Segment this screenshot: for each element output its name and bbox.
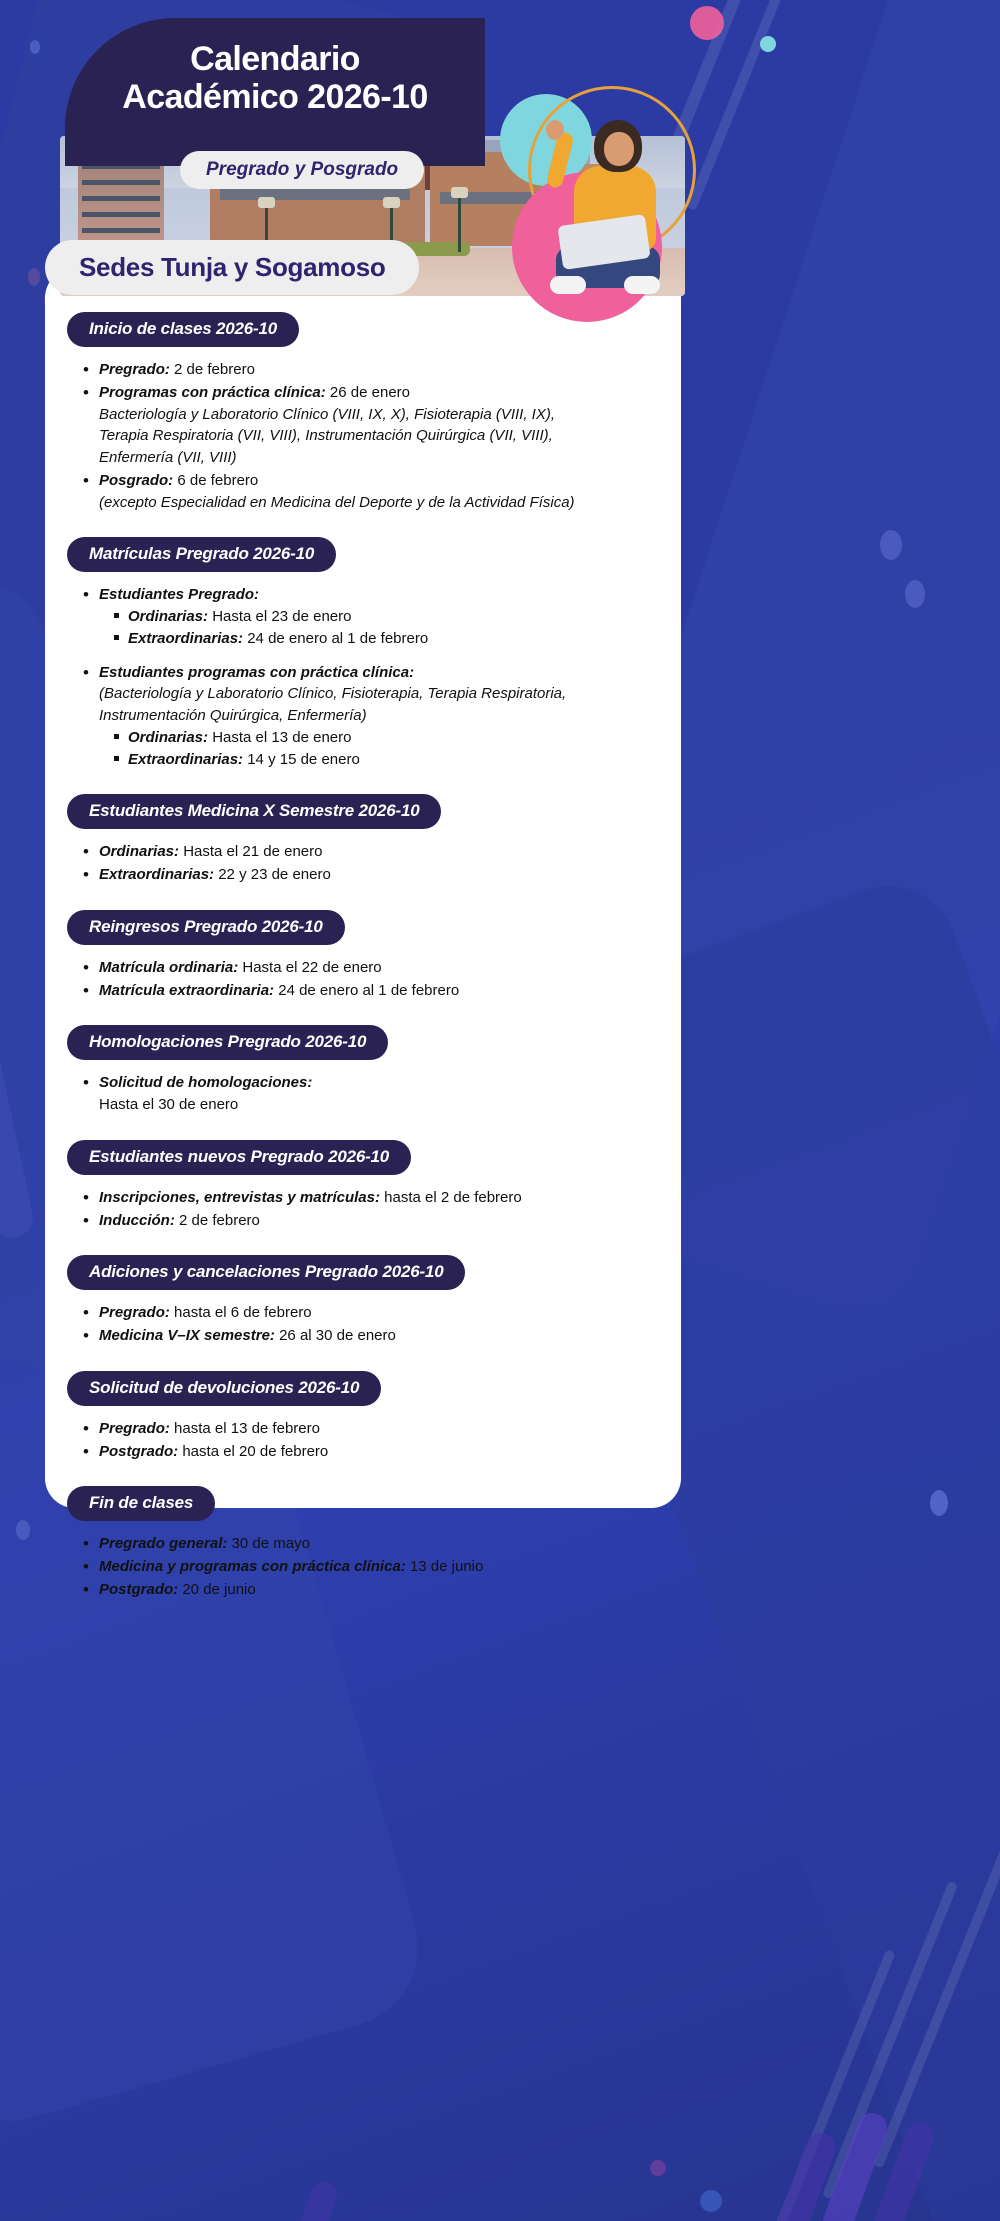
item-note: (excepto Especialidad en Medicina del De… xyxy=(99,492,681,514)
list-item: Ordinarias: Hasta el 21 de enero xyxy=(83,841,681,863)
item-label: Estudiantes programas con práctica clíni… xyxy=(99,664,414,681)
calendar-section: Adiciones y cancelaciones Pregrado 2026-… xyxy=(45,1243,681,1347)
list-item: Pregrado: 2 de febrero xyxy=(83,359,681,381)
list-item: Medicina V–IX semestre: 26 al 30 de ener… xyxy=(83,1325,681,1347)
section-heading-pill: Matrículas Pregrado 2026-10 xyxy=(67,537,336,572)
section-heading-pill: Reingresos Pregrado 2026-10 xyxy=(67,910,345,945)
campus-pill: Sedes Tunja y Sogamoso xyxy=(45,240,419,295)
item-label: Postgrado: xyxy=(99,1581,178,1598)
bg-dot xyxy=(690,6,724,40)
bg-dot xyxy=(700,2190,722,2212)
list-item: Matrícula ordinaria: Hasta el 22 de ener… xyxy=(83,957,681,979)
item-label: Solicitud de homologaciones: xyxy=(99,1074,312,1091)
list-item: Posgrado: 6 de febrero(excepto Especiali… xyxy=(83,470,681,514)
calendar-sections: Inicio de clases 2026-10Pregrado: 2 de f… xyxy=(45,300,681,1639)
item-value: 2 de febrero xyxy=(170,361,255,378)
list-item: Estudiantes programas con práctica clíni… xyxy=(83,662,681,771)
bg-dot xyxy=(28,268,40,286)
calendar-section: Solicitud de devoluciones 2026-10Pregrad… xyxy=(45,1359,681,1463)
list-item: Estudiantes Pregrado:Ordinarias: Hasta e… xyxy=(83,584,681,649)
list-item: Inducción: 2 de febrero xyxy=(83,1210,681,1232)
calendar-section: Homologaciones Pregrado 2026-10Solicitud… xyxy=(45,1013,681,1116)
section-item-list: Ordinarias: Hasta el 21 de eneroExtraord… xyxy=(83,841,681,886)
item-label: Pregrado general: xyxy=(99,1535,227,1552)
section-item-list: Estudiantes Pregrado:Ordinarias: Hasta e… xyxy=(83,584,681,770)
sub-item-value: 24 de enero al 1 de febrero xyxy=(243,630,428,647)
page-title-line2: Académico 2026-10 xyxy=(122,78,427,116)
item-note: Instrumentación Quirúrgica, Enfermería) xyxy=(99,705,681,727)
sub-list-item: Ordinarias: Hasta el 13 de enero xyxy=(113,727,681,749)
bg-dot xyxy=(760,36,776,52)
section-heading-pill: Homologaciones Pregrado 2026-10 xyxy=(67,1025,388,1060)
list-item: Inscripciones, entrevistas y matrículas:… xyxy=(83,1187,681,1209)
item-label: Matrícula extraordinaria: xyxy=(99,982,274,999)
sub-item-value: Hasta el 23 de enero xyxy=(208,608,351,625)
sub-item-value: 14 y 15 de enero xyxy=(243,751,360,768)
campus-pill-label: Sedes Tunja y Sogamoso xyxy=(79,252,385,282)
bg-squiggle xyxy=(285,2178,340,2221)
bg-dot xyxy=(650,2160,666,2176)
sub-item-label: Ordinarias: xyxy=(128,729,208,746)
bg-dot xyxy=(880,530,902,560)
list-item: Pregrado general: 30 de mayo xyxy=(83,1533,681,1555)
section-heading-pill: Inicio de clases 2026-10 xyxy=(67,312,299,347)
subtitle-pill-label: Pregrado y Posgrado xyxy=(206,159,398,180)
section-heading-pill: Estudiantes Medicina X Semestre 2026-10 xyxy=(67,794,441,829)
item-value: hasta el 6 de febrero xyxy=(170,1304,312,1321)
item-value: hasta el 2 de febrero xyxy=(380,1189,522,1206)
item-label: Pregrado: xyxy=(99,1420,170,1437)
item-label: Pregrado: xyxy=(99,1304,170,1321)
item-label: Medicina V–IX semestre: xyxy=(99,1327,275,1344)
item-note: Terapia Respiratoria (VII, VIII), Instru… xyxy=(99,425,681,447)
item-label: Postgrado: xyxy=(99,1443,178,1460)
item-label: Pregrado: xyxy=(99,361,170,378)
item-value: 30 de mayo xyxy=(227,1535,310,1552)
section-item-list: Solicitud de homologaciones:Hasta el 30 … xyxy=(83,1072,681,1116)
sub-item-label: Extraordinarias: xyxy=(128,630,243,647)
list-item: Programas con práctica clínica: 26 de en… xyxy=(83,382,681,469)
title-plate: Calendario Académico 2026-10 xyxy=(65,18,485,166)
calendar-section: Inicio de clases 2026-10Pregrado: 2 de f… xyxy=(45,300,681,513)
item-value: 26 al 30 de enero xyxy=(275,1327,396,1344)
list-item: Extraordinarias: 22 y 23 de enero xyxy=(83,864,681,886)
item-label: Medicina y programas con práctica clínic… xyxy=(99,1558,406,1575)
student-face xyxy=(604,132,634,166)
list-item: Solicitud de homologaciones:Hasta el 30 … xyxy=(83,1072,681,1116)
section-heading-pill: Estudiantes nuevos Pregrado 2026-10 xyxy=(67,1140,411,1175)
list-spacer xyxy=(83,651,681,661)
list-item: Pregrado: hasta el 6 de febrero xyxy=(83,1302,681,1324)
section-item-list: Pregrado: 2 de febreroProgramas con prác… xyxy=(83,359,681,513)
sub-item-list: Ordinarias: Hasta el 13 de eneroExtraord… xyxy=(113,727,681,771)
subtitle-pill: Pregrado y Posgrado xyxy=(180,151,424,189)
list-item: Medicina y programas con práctica clínic… xyxy=(83,1556,681,1578)
item-label: Ordinarias: xyxy=(99,843,179,860)
bg-dot xyxy=(930,1490,948,1516)
item-label: Programas con práctica clínica: xyxy=(99,384,326,401)
item-note-plain: Hasta el 30 de enero xyxy=(99,1094,681,1116)
item-value: Hasta el 22 de enero xyxy=(238,959,381,976)
item-value: hasta el 20 de febrero xyxy=(178,1443,328,1460)
calendar-section: Matrículas Pregrado 2026-10Estudiantes P… xyxy=(45,525,681,770)
section-item-list: Pregrado: hasta el 13 de febreroPostgrad… xyxy=(83,1418,681,1463)
sub-item-label: Extraordinarias: xyxy=(128,751,243,768)
item-value: 24 de enero al 1 de febrero xyxy=(274,982,459,999)
list-item: Matrícula extraordinaria: 24 de enero al… xyxy=(83,980,681,1002)
item-label: Inscripciones, entrevistas y matrículas: xyxy=(99,1189,380,1206)
item-value: hasta el 13 de febrero xyxy=(170,1420,320,1437)
item-value: 22 y 23 de enero xyxy=(214,866,331,883)
section-item-list: Pregrado: hasta el 6 de febreroMedicina … xyxy=(83,1302,681,1347)
calendar-section: Estudiantes nuevos Pregrado 2026-10Inscr… xyxy=(45,1128,681,1232)
item-value: 13 de junio xyxy=(406,1558,484,1575)
student-shoe-left xyxy=(550,276,586,294)
sub-list-item: Extraordinarias: 24 de enero al 1 de feb… xyxy=(113,628,681,650)
sub-list-item: Extraordinarias: 14 y 15 de enero xyxy=(113,749,681,771)
item-label: Estudiantes Pregrado: xyxy=(99,586,259,603)
bg-dot xyxy=(16,1520,30,1540)
page-title: Calendario Académico 2026-10 xyxy=(65,18,485,116)
sub-list-item: Ordinarias: Hasta el 23 de enero xyxy=(113,606,681,628)
item-value: Hasta el 21 de enero xyxy=(179,843,322,860)
list-item: Pregrado: hasta el 13 de febrero xyxy=(83,1418,681,1440)
page-title-line1: Calendario xyxy=(190,40,360,78)
item-label: Extraordinarias: xyxy=(99,866,214,883)
list-item: Postgrado: 20 de junio xyxy=(83,1579,681,1601)
item-note: Bacteriología y Laboratorio Clínico (VII… xyxy=(99,404,681,426)
sub-item-label: Ordinarias: xyxy=(128,608,208,625)
item-note: Enfermería (VII, VIII) xyxy=(99,447,681,469)
section-heading-pill: Fin de clases xyxy=(67,1486,215,1521)
item-label: Matrícula ordinaria: xyxy=(99,959,238,976)
list-item: Postgrado: hasta el 20 de febrero xyxy=(83,1441,681,1463)
item-value: 20 de junio xyxy=(178,1581,256,1598)
item-note: (Bacteriología y Laboratorio Clínico, Fi… xyxy=(99,683,681,705)
section-item-list: Pregrado general: 30 de mayoMedicina y p… xyxy=(83,1533,681,1600)
item-label: Posgrado: xyxy=(99,472,173,489)
student-shoe-right xyxy=(624,276,660,294)
item-value: 26 de enero xyxy=(326,384,410,401)
item-label: Inducción: xyxy=(99,1212,175,1229)
section-heading-pill: Solicitud de devoluciones 2026-10 xyxy=(67,1371,381,1406)
section-heading-pill: Adiciones y cancelaciones Pregrado 2026-… xyxy=(67,1255,465,1290)
calendar-section: Reingresos Pregrado 2026-10Matrícula ord… xyxy=(45,898,681,1002)
section-item-list: Matrícula ordinaria: Hasta el 22 de ener… xyxy=(83,957,681,1002)
calendar-section: Estudiantes Medicina X Semestre 2026-10O… xyxy=(45,782,681,886)
bg-dot xyxy=(30,40,40,54)
calendar-section: Fin de clasesPregrado general: 30 de may… xyxy=(45,1474,681,1600)
student-hand xyxy=(546,120,564,140)
item-value: 2 de febrero xyxy=(175,1212,260,1229)
section-item-list: Inscripciones, entrevistas y matrículas:… xyxy=(83,1187,681,1232)
sub-item-value: Hasta el 13 de enero xyxy=(208,729,351,746)
sub-item-list: Ordinarias: Hasta el 23 de eneroExtraord… xyxy=(113,606,681,650)
bg-dot xyxy=(905,580,925,608)
item-value: 6 de febrero xyxy=(173,472,258,489)
student-illustration xyxy=(490,80,705,310)
